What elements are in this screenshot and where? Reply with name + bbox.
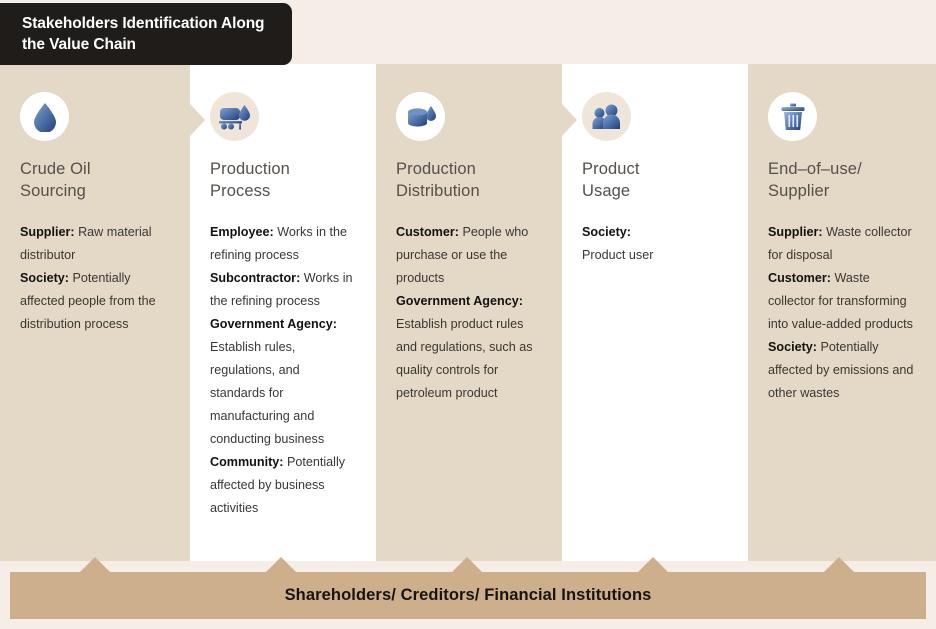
bottom-bar-label: Shareholders/ Creditors/ Financial Insti… [285,586,652,605]
page-title: Stakeholders Identification Along the Va… [22,13,274,56]
stage-column-crude-oil-sourcing[interactable]: Crude Oil Sourcing Supplier: Raw materia… [0,64,190,561]
role-desc: Product user [582,248,653,262]
arrow-up-icon [824,557,854,572]
role-label: Customer: [396,225,459,239]
infographic-root: Stakeholders Identification Along the Va… [0,0,936,629]
stage-title: Production Distribution [396,158,542,203]
stage-title: Crude Oil Sourcing [20,158,170,203]
stage-column-end-of-use-supplier[interactable]: End–of–use/ Supplier Supplier: Waste col… [748,64,936,561]
people-icon [582,92,631,141]
role-label: Society: [20,271,69,285]
title-badge: Stakeholders Identification Along the Va… [0,3,292,65]
value-chain-columns: Crude Oil Sourcing Supplier: Raw materia… [0,64,936,561]
oil-droplet-icon [20,92,69,141]
role-label: Community: [210,455,283,469]
role-desc: Establish rules, regulations, and standa… [210,340,324,446]
trash-bin-icon [768,92,817,141]
role-desc: Establish product rules and regulations,… [396,317,533,400]
arrow-up-icon [452,557,482,572]
oil-barrel-droplet-icon [396,92,445,141]
role-label: Supplier: [20,225,75,239]
chevron-right-icon [562,104,577,136]
role-label: Customer: [768,271,831,285]
stage-column-production-distribution[interactable]: Production Distribution Customer: People… [376,64,562,561]
stage-body: Supplier: Waste collector for disposal C… [768,221,916,405]
bottom-bar: Shareholders/ Creditors/ Financial Insti… [10,572,926,619]
tanker-truck-icon [210,92,259,141]
role-label: Employee: [210,225,274,239]
stage-column-product-usage[interactable]: Product Usage Society: Product user [562,64,748,561]
role-label: Government Agency: [210,317,337,331]
stage-title: End–of–use/ Supplier [768,158,916,203]
stage-body: Supplier: Raw material distributor Socie… [20,221,170,336]
chevron-right-icon [190,104,205,136]
role-label: Government Agency: [396,294,523,308]
stage-body: Employee: Works in the refining process … [210,221,356,520]
role-label: Subcontractor: [210,271,300,285]
stage-title: Production Process [210,158,356,203]
stage-title: Product Usage [582,158,728,203]
role-label: Society: [768,340,817,354]
role-label: Supplier: [768,225,823,239]
stage-body: Customer: People who purchase or use the… [396,221,542,405]
stage-column-production-process[interactable]: Production Process Employee: Works in th… [190,64,376,561]
role-label: Society: [582,225,631,239]
stage-body: Society: Product user [582,221,728,267]
arrow-up-icon [638,557,668,572]
arrow-up-icon [266,557,296,572]
arrow-up-icon [80,557,110,572]
